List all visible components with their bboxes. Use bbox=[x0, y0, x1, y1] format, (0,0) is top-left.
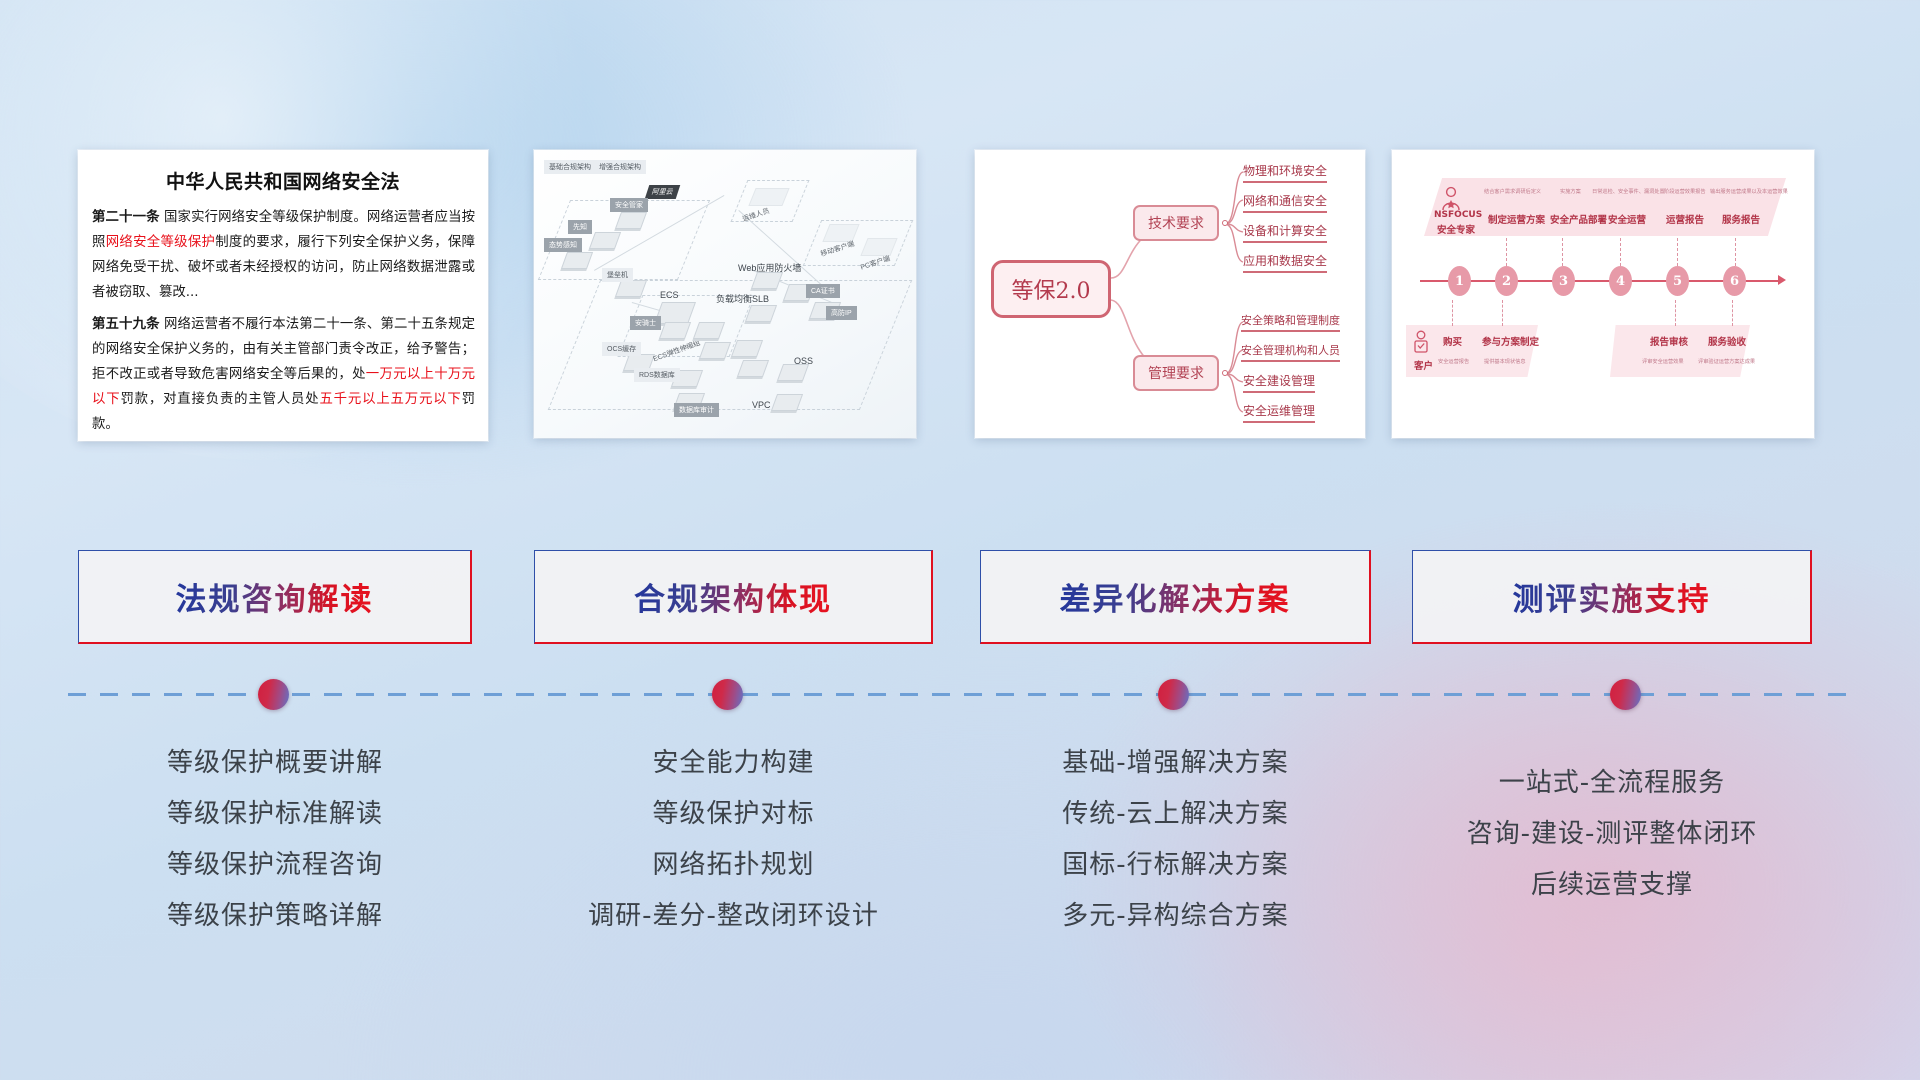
nsfocus-customer-label: 客户 bbox=[1414, 358, 1433, 372]
timeline-dot-1 bbox=[258, 679, 289, 710]
law-title: 中华人民共和国网络安全法 bbox=[78, 167, 488, 194]
nsfocus-step-6: 6 bbox=[1723, 266, 1746, 296]
timeline-rail bbox=[68, 693, 1852, 696]
timeline-dot-3 bbox=[1158, 679, 1189, 710]
mindmap-junction-dot-technical bbox=[1222, 220, 1228, 226]
nsfocus-connector-3 bbox=[1562, 238, 1563, 266]
nsfocus-bottom-sub-5: 评审安全运营效果 bbox=[1642, 358, 1684, 365]
arch-plate-ops bbox=[748, 188, 789, 206]
nsfocus-top-title-2: 制定运营方案 bbox=[1488, 212, 1545, 226]
nsfocus-bottom-sub-2: 提供基本现状信息 bbox=[1484, 358, 1526, 365]
nsfocus-bottom-title-2: 参与方案制定 bbox=[1482, 334, 1539, 348]
section-title-1: 法规咨询解读 bbox=[176, 574, 374, 619]
nsfocus-bottom-sub-1: 安全运营报告 bbox=[1438, 358, 1469, 365]
nsfocus-top-sub-2: 结合客户需求调研后定义 bbox=[1484, 188, 1541, 195]
arch-label-vpc: VPC bbox=[752, 400, 771, 410]
nsfocus-top-title-4: 安全运营 bbox=[1608, 212, 1646, 226]
section-list-3: 基础-增强解决方案 传统-云上解决方案 国标-行标解决方案 多元-异构综合方案 bbox=[980, 738, 1371, 942]
arch-tab-basic[interactable]: 基础合规架构 bbox=[544, 160, 596, 174]
arch-label-ecs: ECS bbox=[660, 290, 679, 300]
list-item: 多元-异构综合方案 bbox=[980, 891, 1371, 942]
mindmap-branch-technical: 技术要求 bbox=[1133, 205, 1219, 241]
nsfocus-connector-4 bbox=[1620, 238, 1621, 266]
list-item: 一站式-全流程服务 bbox=[1412, 758, 1812, 809]
arch-tab-enhanced[interactable]: 增强合规架构 bbox=[594, 160, 646, 174]
cards-row: 中华人民共和国网络安全法 第二十一条 国家实行网络安全等级保护制度。网络运营者应… bbox=[0, 150, 1920, 442]
nsfocus-connector-b5 bbox=[1675, 300, 1676, 326]
list-item: 后续运营支撑 bbox=[1412, 860, 1812, 911]
law-article-21-highlight: 网络安全等级保护 bbox=[106, 235, 216, 250]
mindmap-branch-management: 管理要求 bbox=[1133, 355, 1219, 391]
architecture-canvas: 基础合规架构 增强合规架构 阿里云 安全管家 先知 态势感知 堡垒机 bbox=[534, 150, 916, 438]
section-title-box-3[interactable]: 差异化解决方案 bbox=[980, 550, 1371, 644]
arch-label-oss: OSS bbox=[794, 356, 813, 366]
arch-label-anqishi: 安骑士 bbox=[630, 316, 661, 330]
list-item: 网络拓扑规划 bbox=[534, 840, 933, 891]
card-nsfocus-timeline: NSFOCUS 安全专家 结合客户需求调研后定义 制定运营方案 实施方案 安全产… bbox=[1392, 150, 1814, 438]
nsfocus-connector-b1 bbox=[1452, 300, 1453, 326]
timeline-dot-2 bbox=[712, 679, 743, 710]
mindmap-leaf-ops-mgmt: 安全运维管理 bbox=[1243, 402, 1315, 423]
arch-label-waf: Web应用防火墙 bbox=[738, 261, 801, 274]
law-body: 第二十一条 国家实行网络安全等级保护制度。网络运营者应当按照网络安全等级保护制度… bbox=[78, 205, 488, 437]
mindmap-leaf-org-personnel: 安全管理机构和人员 bbox=[1241, 342, 1340, 362]
nsfocus-top-title-3: 安全产品部署 bbox=[1550, 212, 1607, 226]
arch-label-ocs: OCS缓存 bbox=[602, 342, 641, 356]
timeline-dot-4 bbox=[1610, 679, 1641, 710]
nsfocus-top-sub-5: 阶段运营效果报告 bbox=[1664, 188, 1706, 195]
list-item: 等级保护流程咨询 bbox=[78, 840, 472, 891]
section-title-2: 合规架构体现 bbox=[634, 574, 832, 619]
nsfocus-timeline-arrow-icon bbox=[1778, 275, 1786, 285]
nsfocus-connector-6 bbox=[1735, 238, 1736, 266]
arch-label-ca: CA证书 bbox=[806, 284, 840, 298]
nsfocus-step-5: 5 bbox=[1666, 266, 1689, 296]
law-article-59-highlight-2: 五千元以上五万元以下 bbox=[319, 392, 461, 407]
nsfocus-top-title-6: 服务报告 bbox=[1722, 212, 1760, 226]
mindmap-leaf-app-data: 应用和数据安全 bbox=[1243, 252, 1327, 273]
mindmap-leaf-device-compute: 设备和计算安全 bbox=[1243, 222, 1327, 243]
nsfocus-connector-5 bbox=[1677, 238, 1678, 266]
nsfocus-step-2: 2 bbox=[1495, 266, 1518, 296]
law-article-21: 第二十一条 国家实行网络安全等级保护制度。网络运营者应当按照网络安全等级保护制度… bbox=[92, 205, 475, 305]
mindmap-leaf-construction-mgmt: 安全建设管理 bbox=[1243, 372, 1315, 393]
law-article-59-text-b: 罚款，对直接负责的主管人员处 bbox=[120, 392, 319, 407]
nsfocus-band-provider bbox=[1424, 178, 1786, 236]
nsfocus-top-sub-3: 实施方案 bbox=[1560, 188, 1581, 195]
arch-badge-cloud: 阿里云 bbox=[645, 185, 681, 199]
card-law-document: 中华人民共和国网络安全法 第二十一条 国家实行网络安全等级保护制度。网络运营者应… bbox=[78, 150, 488, 441]
arch-label-bastion: 堡垒机 bbox=[602, 268, 633, 282]
expert-person-icon bbox=[1440, 186, 1462, 212]
list-item: 传统-云上解决方案 bbox=[980, 789, 1371, 840]
list-item: 国标-行标解决方案 bbox=[980, 840, 1371, 891]
nsfocus-bottom-title-1: 购买 bbox=[1443, 334, 1462, 348]
section-list-4: 一站式-全流程服务 咨询-建设-测评整体闭环 后续运营支撑 bbox=[1412, 758, 1812, 911]
arch-label-db-audit: 数据库审计 bbox=[674, 403, 719, 417]
list-item: 安全能力构建 bbox=[534, 738, 933, 789]
mindmap-canvas: 等保2.0 技术要求 物理和环境安全 网络和通信安全 设备和计算安全 应用和数据… bbox=[975, 150, 1365, 438]
mindmap-leaf-physical-env: 物理和环境安全 bbox=[1243, 162, 1327, 183]
list-item: 咨询-建设-测评整体闭环 bbox=[1412, 809, 1812, 860]
list-item: 调研-差分-整改闭环设计 bbox=[534, 891, 933, 942]
nsfocus-step-3: 3 bbox=[1552, 266, 1575, 296]
list-item: 等级保护标准解读 bbox=[78, 789, 472, 840]
nsfocus-top-sub-4: 日常巡检、安全事件、漏洞处置 bbox=[1592, 188, 1665, 195]
arch-label-situation-awareness: 态势感知 bbox=[544, 238, 582, 252]
section-title-3: 差异化解决方案 bbox=[1060, 574, 1291, 619]
card-architecture-diagram: 基础合规架构 增强合规架构 阿里云 安全管家 先知 态势感知 堡垒机 bbox=[534, 150, 916, 438]
nsfocus-expert-name: NSFOCUS bbox=[1434, 210, 1482, 220]
mindmap-junction-dot-management bbox=[1222, 370, 1228, 376]
list-item: 等级保护策略详解 bbox=[78, 891, 472, 942]
law-article-59-label: 第五十九条 bbox=[92, 317, 160, 332]
nsfocus-band-customer-right bbox=[1610, 325, 1750, 377]
arch-label-xianzhi: 先知 bbox=[568, 220, 592, 234]
mindmap-leaf-network-comm: 网络和通信安全 bbox=[1243, 192, 1327, 213]
arch-label-slb: 负载均衡SLB bbox=[716, 292, 769, 305]
nsfocus-expert-role: 安全专家 bbox=[1437, 222, 1475, 236]
list-item: 等级保护对标 bbox=[534, 789, 933, 840]
nsfocus-bottom-title-5: 报告审核 bbox=[1650, 334, 1688, 348]
customer-person-icon bbox=[1412, 330, 1430, 356]
section-list-1: 等级保护概要讲解 等级保护标准解读 等级保护流程咨询 等级保护策略详解 bbox=[78, 738, 472, 942]
section-title-box-4[interactable]: 测评实施支持 bbox=[1412, 550, 1812, 644]
section-list-2: 安全能力构建 等级保护对标 网络拓扑规划 调研-差分-整改闭环设计 bbox=[534, 738, 933, 942]
law-article-21-label: 第二十一条 bbox=[92, 210, 160, 225]
law-article-59: 第五十九条 网络运营者不履行本法第二十一条、第二十五条规定的网络安全保护义务的，… bbox=[92, 312, 475, 437]
card-mindmap: 等保2.0 技术要求 物理和环境安全 网络和通信安全 设备和计算安全 应用和数据… bbox=[975, 150, 1365, 438]
section-title-box-2[interactable]: 合规架构体现 bbox=[534, 550, 933, 644]
section-titles-row: 法规咨询解读 合规架构体现 差异化解决方案 测评实施支持 bbox=[0, 550, 1920, 644]
mindmap-leaf-policy-system: 安全策略和管理制度 bbox=[1241, 312, 1340, 332]
nsfocus-top-sub-6: 输出服务运营成果以及本运营效果 bbox=[1710, 188, 1788, 195]
mindmap-root: 等保2.0 bbox=[991, 260, 1111, 318]
section-title-4: 测评实施支持 bbox=[1513, 574, 1711, 619]
arch-label-rds: RDS数据库 bbox=[634, 368, 680, 382]
arch-label-security-butler: 安全管家 bbox=[610, 198, 648, 212]
nsfocus-top-title-5: 运营报告 bbox=[1666, 212, 1704, 226]
nsfocus-bottom-sub-6: 评审验证运营方案达成果 bbox=[1698, 358, 1755, 365]
nsfocus-step-4: 4 bbox=[1609, 266, 1632, 296]
nsfocus-connector-b2 bbox=[1502, 300, 1503, 326]
section-title-box-1[interactable]: 法规咨询解读 bbox=[78, 550, 472, 644]
nsfocus-step-1: 1 bbox=[1448, 266, 1471, 296]
nsfocus-connector-2 bbox=[1506, 238, 1507, 266]
list-item: 基础-增强解决方案 bbox=[980, 738, 1371, 789]
nsfocus-canvas: NSFOCUS 安全专家 结合客户需求调研后定义 制定运营方案 实施方案 安全产… bbox=[1392, 150, 1814, 438]
list-item: 等级保护概要讲解 bbox=[78, 738, 472, 789]
arch-label-anti-ddos: 高防IP bbox=[826, 306, 857, 320]
nsfocus-bottom-title-6: 服务验收 bbox=[1708, 334, 1746, 348]
nsfocus-connector-b6 bbox=[1732, 300, 1733, 326]
